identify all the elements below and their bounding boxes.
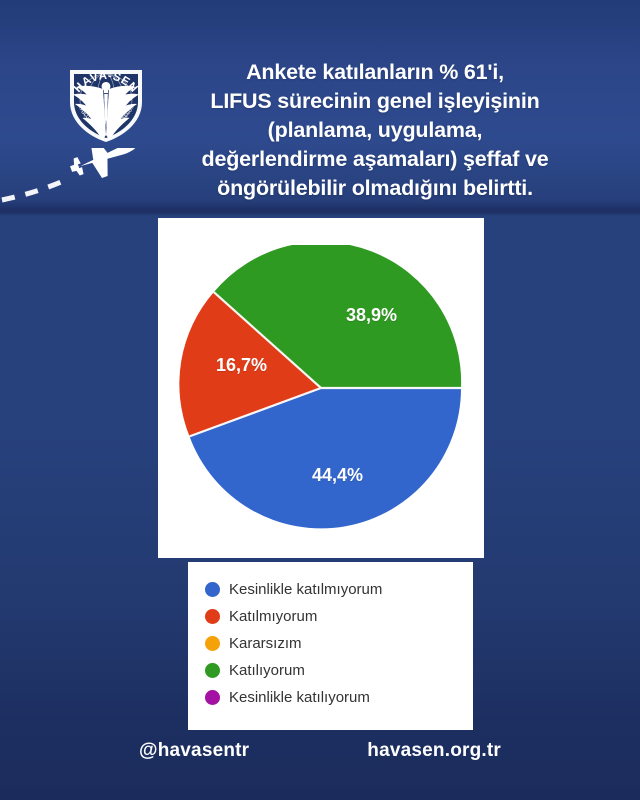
legend-label: Kesinlikle katılmıyorum (229, 582, 382, 597)
pie-label-kesinlikle-katilmiyorum: 44,4% (312, 465, 363, 486)
social-handle[interactable]: @havasentr (139, 740, 249, 762)
legend-label: Kesinlikle katılıyorum (229, 690, 370, 705)
legend-item-kesinlikle-katilmiyorum: Kesinlikle katılmıyorum (205, 576, 473, 603)
headline-line-3: (planlama, uygulama, (150, 116, 600, 145)
legend-item-kesinlikle-katiliyorum: Kesinlikle katılıyorum (205, 684, 473, 711)
legend-swatch-red (205, 609, 220, 624)
airplane-icon (64, 148, 143, 187)
poster-canvas: HAVA-SEN HAVAYOLU ÇALIŞANLARI SENDİKASI (0, 0, 640, 800)
airplane-decoration (0, 148, 145, 210)
legend-label: Kararsızım (229, 636, 302, 651)
hava-sen-logo: HAVA-SEN HAVAYOLU ÇALIŞANLARI SENDİKASI (64, 52, 148, 144)
headline-line-1: Ankete katılanların % 61'i, (150, 58, 600, 87)
headline-line-5: öngörülebilir olmadığını belirtti. (150, 174, 600, 203)
chart-legend: Kesinlikle katılmıyorum Katılmıyorum Kar… (188, 562, 473, 730)
headline-line-2: LIFUS sürecinin genel işleyişinin (150, 87, 600, 116)
legend-label: Katılmıyorum (229, 609, 317, 624)
legend-swatch-green (205, 663, 220, 678)
legend-item-kararsizim: Kararsızım (205, 630, 473, 657)
legend-swatch-blue (205, 582, 220, 597)
page-title: Ankete katılanların % 61'i, LIFUS süreci… (150, 58, 600, 203)
footer-band: @havasentr havasen.org.tr (0, 730, 640, 800)
legend-item-katiliyorum: Katılıyorum (205, 657, 473, 684)
pie-label-katiliyorum: 38,9% (346, 305, 397, 326)
legend-swatch-purple (205, 690, 220, 705)
header-band: HAVA-SEN HAVAYOLU ÇALIŞANLARI SENDİKASI (0, 0, 640, 212)
legend-item-katilmiyorum: Katılmıyorum (205, 603, 473, 630)
legend-label: Katılıyorum (229, 663, 305, 678)
dashed-contrail (2, 179, 68, 200)
legend-swatch-orange (205, 636, 220, 651)
website-url[interactable]: havasen.org.tr (367, 740, 501, 762)
pie-label-katilmiyorum: 16,7% (216, 355, 267, 376)
pie-chart: 38,9% 16,7% 44,4% (178, 245, 464, 531)
headline-line-4: değerlendirme aşamaları) şeffaf ve (150, 145, 600, 174)
chart-panel: 38,9% 16,7% 44,4% (158, 218, 484, 558)
